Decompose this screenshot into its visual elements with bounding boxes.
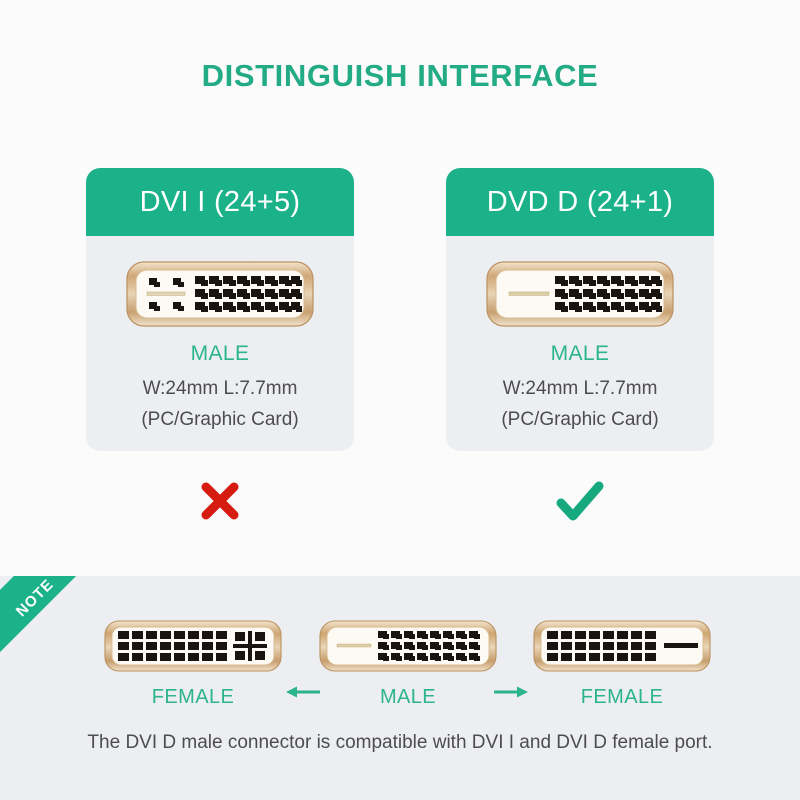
card-title: DVI I (24+5) [140,186,301,219]
note-label-dvi-i-female: FEMALE [103,686,283,709]
card-header-dvi-i: DVI I (24+5) [86,168,354,236]
usage-text: (PC/Graphic Card) [141,409,298,431]
page-title: DISTINGUISH INTERFACE [0,58,800,94]
cross-icon [197,478,243,524]
card-header-dvi-d: DVD D (24+1) [446,168,714,236]
card-dvi-i: DVI I (24+5) [86,168,354,451]
arrow-right [494,684,528,705]
note-panel: NOTE [0,576,800,800]
comparison-area: DVI I (24+5) [0,168,800,540]
verdict-incompatible [86,478,354,529]
arrow-right-icon [494,684,528,700]
gender-label: MALE [551,342,610,366]
card-title: DVD D (24+1) [487,186,674,219]
note-item-dvi-i-female [103,618,283,679]
gender-label: MALE [191,342,250,366]
dimensions-text: W:24mm L:7.7mm [143,378,298,400]
verdict-compatible [446,478,714,529]
card-body-dvi-d: MALE W:24mm L:7.7mm (PC/Graphic Card) [446,236,714,451]
note-caption: The DVI D male connector is compatible w… [0,732,800,754]
note-item-dvi-d-female [532,618,712,679]
dvi-d-male-connector-icon [485,258,675,330]
arrow-left [286,684,320,705]
dvi-i-male-connector-icon [125,258,315,330]
note-label-dvi-d-female: FEMALE [532,686,712,709]
check-icon [555,478,605,524]
card-dvi-d: DVD D (24+1) [446,168,714,451]
dvi-d-female-port-icon [532,618,712,674]
note-item-dvi-d-male [318,618,498,679]
dimensions-text: W:24mm L:7.7mm [503,378,658,400]
card-body-dvi-i: MALE W:24mm L:7.7mm (PC/Graphic Card) [86,236,354,451]
dvi-i-female-port-icon [103,618,283,674]
arrow-left-icon [286,684,320,700]
dvi-d-male-connector-icon [318,618,498,674]
note-connector-row [0,618,800,678]
usage-text: (PC/Graphic Card) [501,409,658,431]
note-label-dvi-d-male: MALE [318,686,498,709]
